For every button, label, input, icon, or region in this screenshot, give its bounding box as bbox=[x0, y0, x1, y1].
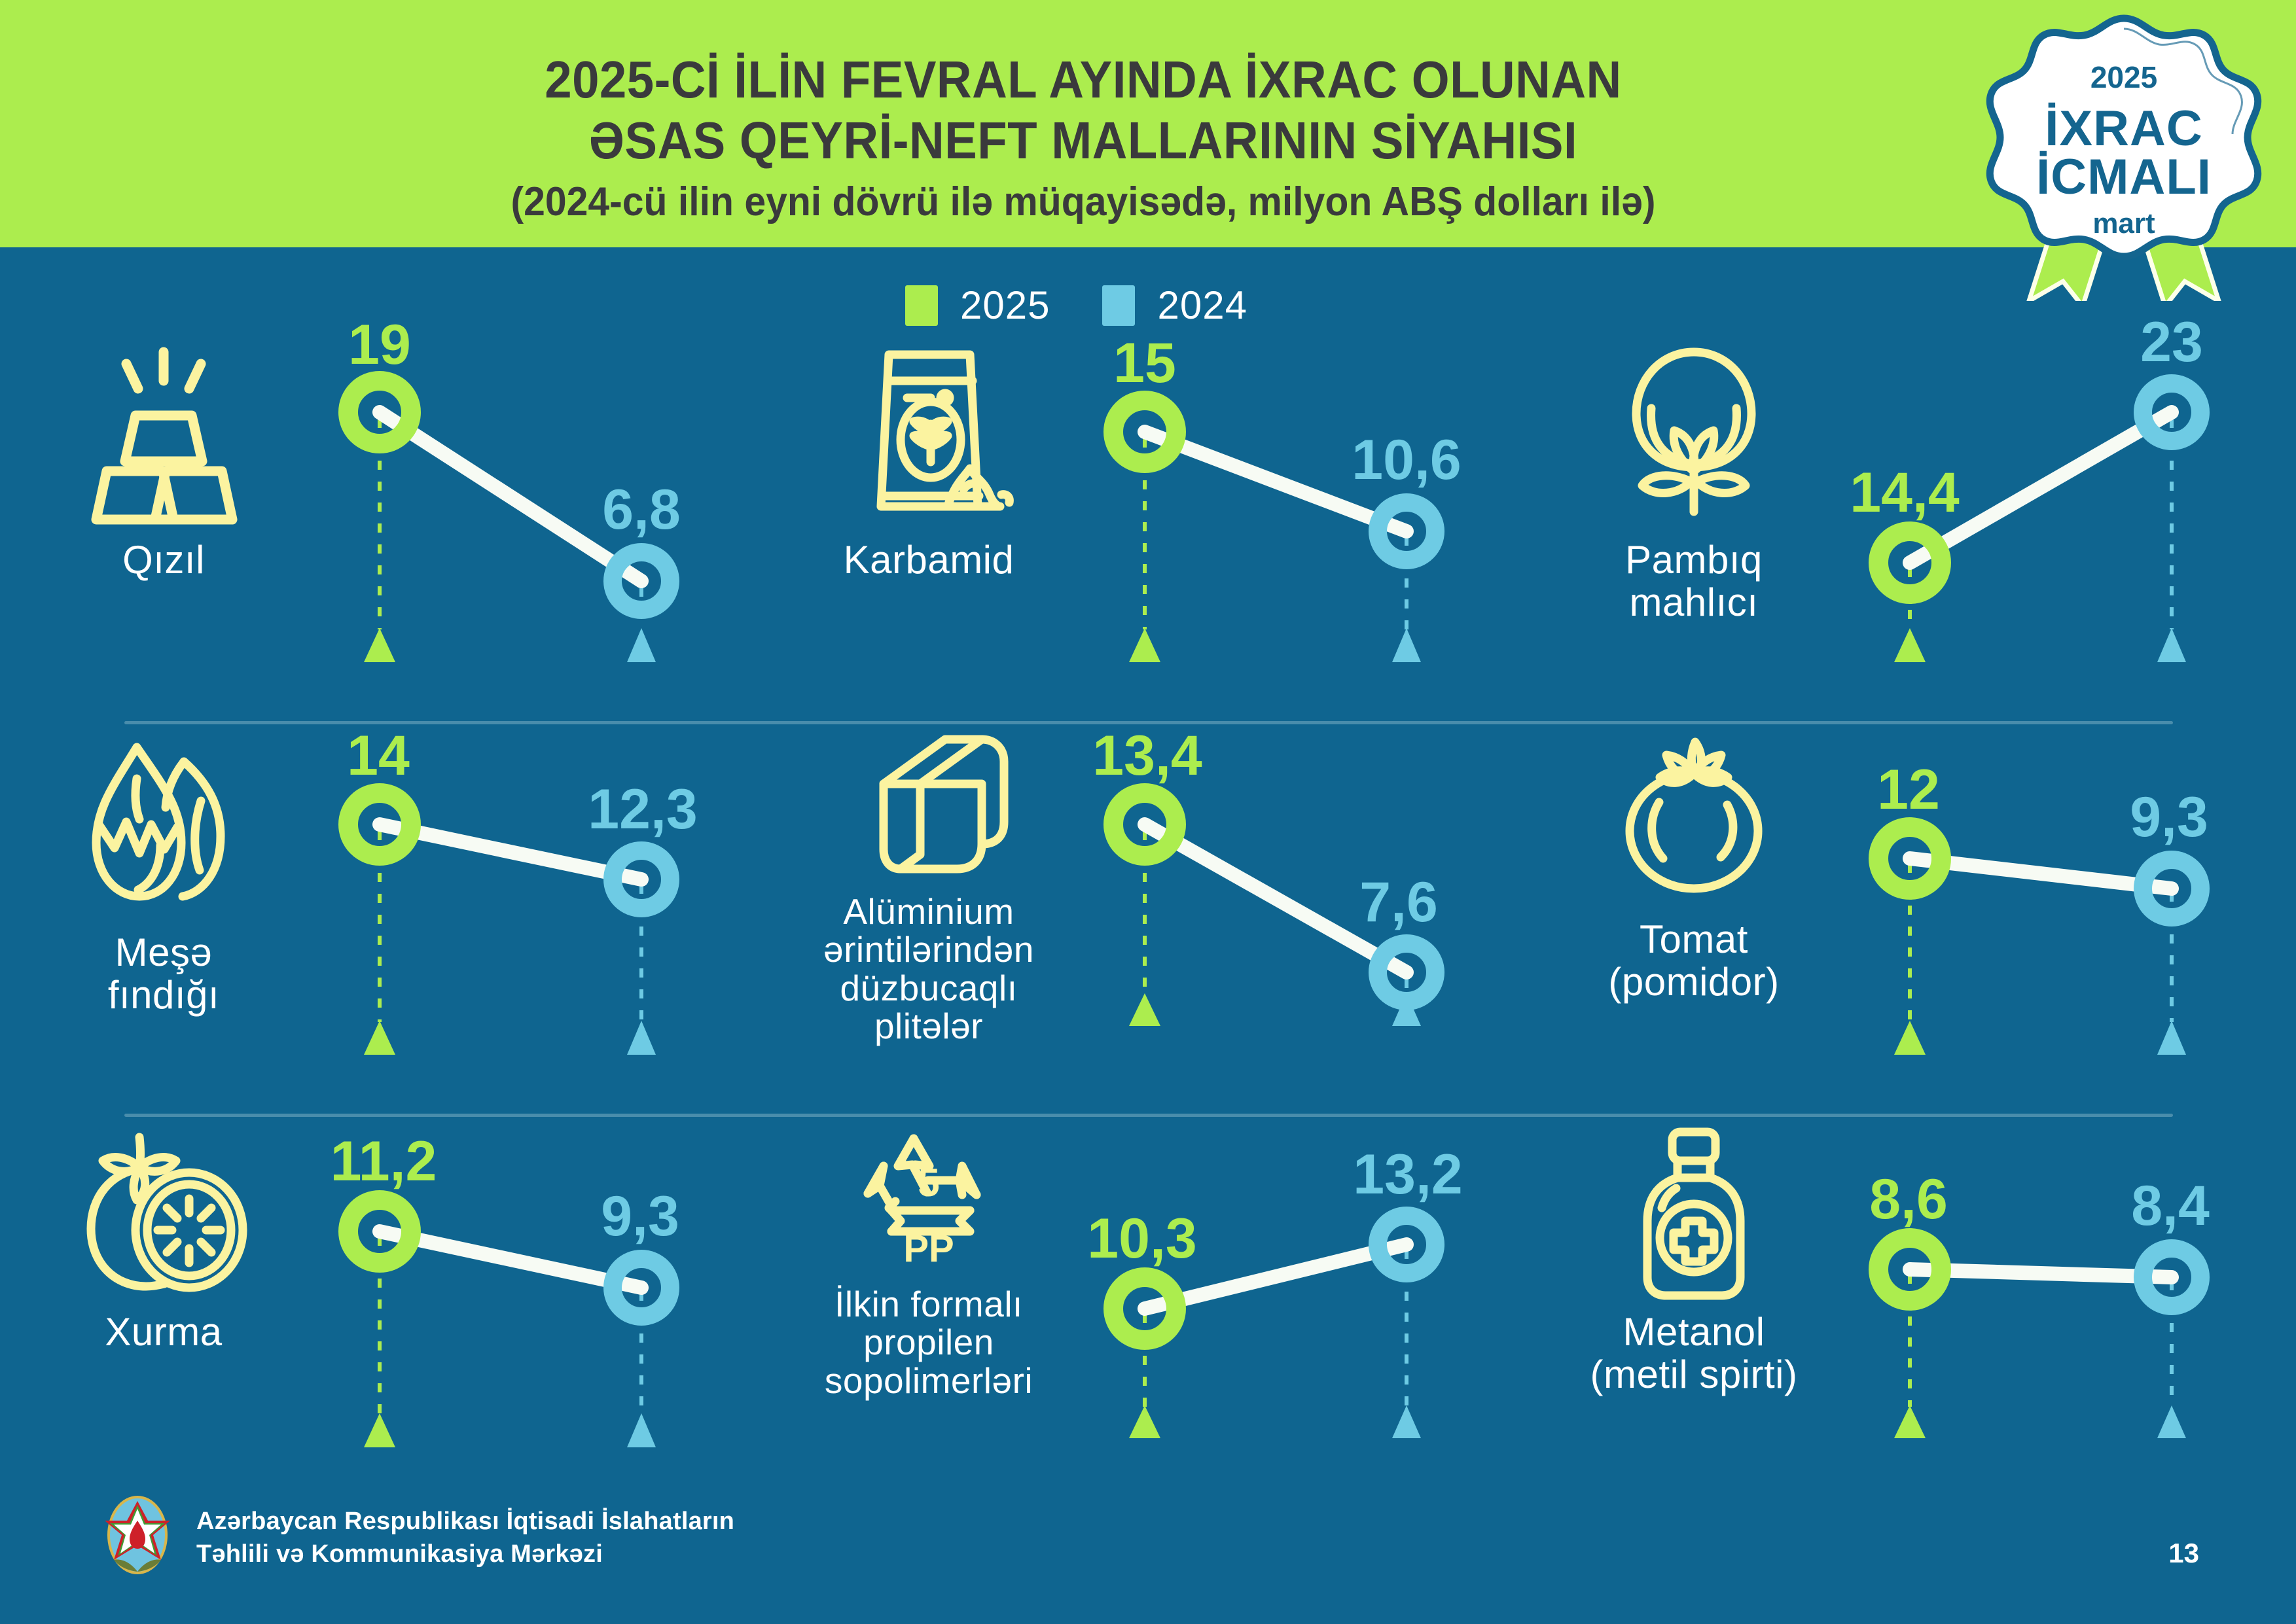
item-cell-karbamid: Karbamid 15 10,6 bbox=[765, 340, 1530, 733]
item-label: Qızıl bbox=[122, 539, 205, 582]
fertilizer-bag-icon bbox=[821, 340, 1037, 530]
item-icon-and-label: Alüminium ərintilərindən düzbucaqlı plit… bbox=[791, 733, 1066, 1099]
item-label: Meşə fındığı bbox=[108, 932, 219, 1017]
item-cell-aluminium-plit: Alüminium ərintilərindən düzbucaqlı plit… bbox=[765, 733, 1530, 1125]
item-icon-and-label: Karbamid bbox=[791, 340, 1066, 707]
gold-bars-icon bbox=[56, 340, 272, 530]
value-2025: 15 bbox=[1113, 332, 1176, 395]
items-row-3: Xurma 11,2 9,3 bbox=[0, 1125, 2296, 1518]
legend-swatch-2024 bbox=[1102, 285, 1135, 326]
item-cell-pambiq-mahlici: Pambıq mahlıcı 14,4 23 bbox=[1530, 340, 2295, 733]
item-plot: 14,4 23 bbox=[1805, 340, 2289, 720]
badge-line1: İXRAC bbox=[2045, 101, 2202, 156]
persimmon-icon bbox=[56, 1125, 272, 1302]
hazelnut-icon bbox=[56, 733, 272, 923]
item-icon-and-label: Tomat (pomidor) bbox=[1556, 733, 1831, 1099]
item-plot: 14 12,3 bbox=[275, 733, 759, 1112]
page-title-line1: 2025-Cİ İLİN FEVRAL AYINDA İXRAC OLUNAN bbox=[453, 50, 1713, 111]
item-label: Pambıq mahlıcı bbox=[1625, 539, 1763, 624]
legend-item-2024: 2024 bbox=[1102, 283, 1247, 328]
legend-label-2025: 2025 bbox=[960, 283, 1050, 328]
recycling-code-label: PP bbox=[903, 1227, 954, 1270]
item-plot: 10,3 13,2 bbox=[1040, 1125, 1524, 1505]
value-2024: 13,2 bbox=[1353, 1143, 1462, 1206]
legend-swatch-2025 bbox=[905, 285, 938, 326]
value-2025: 14,4 bbox=[1850, 461, 1960, 524]
item-icon-and-label: 5 PP İlkin formalı propilen sopolimerlər… bbox=[791, 1125, 1066, 1492]
title-block: 2025-Cİ İLİN FEVRAL AYINDA İXRAC OLUNAN … bbox=[406, 50, 1761, 227]
value-2024: 6,8 bbox=[602, 478, 681, 541]
value-2025: 14 bbox=[347, 724, 410, 787]
item-cell-metanol: Metanol (metil spirti) 8,6 8,4 bbox=[1530, 1125, 2295, 1518]
infographic-page: 2025-Cİ İLİN FEVRAL AYINDA İXRAC OLUNAN … bbox=[0, 0, 2296, 1624]
value-2024: 12,3 bbox=[588, 778, 697, 841]
value-2024: 9,3 bbox=[2130, 786, 2208, 849]
footer: Azərbaycan Respublikası İqtisadi İslahat… bbox=[0, 1493, 2296, 1624]
header-band: 2025-Cİ İLİN FEVRAL AYINDA İXRAC OLUNAN … bbox=[0, 0, 2296, 247]
item-plot: 19 6,8 bbox=[275, 340, 759, 720]
value-2025: 19 bbox=[348, 313, 411, 376]
item-cell-xurma: Xurma 11,2 9,3 bbox=[0, 1125, 765, 1518]
legend-label-2024: 2024 bbox=[1157, 283, 1247, 328]
value-2024: 9,3 bbox=[601, 1185, 679, 1248]
value-2024: 8,4 bbox=[2131, 1174, 2210, 1237]
item-icon-and-label: Xurma bbox=[26, 1125, 301, 1492]
value-2024: 7,6 bbox=[1359, 871, 1438, 934]
item-label: Xurma bbox=[105, 1311, 222, 1354]
item-icon-and-label: Meşə fındığı bbox=[26, 733, 301, 1099]
cotton-boll-icon bbox=[1586, 340, 1802, 530]
tomato-icon bbox=[1586, 733, 1802, 909]
ixrac-icmali-badge: 2025 İXRAC İCMALI mart bbox=[1983, 7, 2265, 301]
items-row-1: Qızıl 19 6,8 bbox=[0, 340, 2296, 733]
item-plot: 8,6 8,4 bbox=[1805, 1125, 2289, 1505]
item-icon-and-label: Metanol (metil spirti) bbox=[1556, 1125, 1831, 1492]
value-2024: 10,6 bbox=[1352, 429, 1461, 491]
badge-line2: İCMALI bbox=[2036, 149, 2212, 205]
badge-month: mart bbox=[2092, 207, 2155, 239]
item-cell-qizil: Qızıl 19 6,8 bbox=[0, 340, 765, 733]
legend-item-2025: 2025 bbox=[905, 283, 1050, 328]
footer-line2: Təhlili və Kommunikasiya Mərkəzi bbox=[196, 1538, 734, 1570]
recycling-code-number: 5 bbox=[918, 1161, 939, 1205]
item-icon-and-label: Qızıl bbox=[26, 340, 301, 707]
page-subtitle: (2024-cü ilin eyni dövrü ilə müqayisədə,… bbox=[440, 177, 1727, 228]
azerbaijan-emblem-icon bbox=[98, 1492, 177, 1583]
page-title-line2: ƏSAS QEYRİ-NEFT MALLARININ SİYAHISI bbox=[453, 111, 1713, 171]
value-2025: 12 bbox=[1877, 758, 1940, 821]
item-label: İlkin formalı propilen sopolimerləri bbox=[825, 1285, 1033, 1400]
footer-line1: Azərbaycan Respublikası İqtisadi İslahat… bbox=[196, 1505, 734, 1538]
legend: 2025 2024 bbox=[905, 283, 1247, 328]
item-plot: 15 10,6 bbox=[1040, 340, 1524, 720]
item-plot: 11,2 9,3 bbox=[275, 1125, 759, 1505]
value-2025: 10,3 bbox=[1087, 1207, 1196, 1270]
footer-text: Azərbaycan Respublikası İqtisadi İslahat… bbox=[196, 1505, 734, 1570]
value-2024: 23 bbox=[2140, 311, 2203, 374]
value-2025: 11,2 bbox=[331, 1130, 437, 1193]
aluminium-slab-icon bbox=[821, 733, 1037, 883]
item-cell-tomat: Tomat (pomidor) 12 9,3 bbox=[1530, 733, 2295, 1125]
row-separator bbox=[124, 1114, 2173, 1117]
item-icon-and-label: Pambıq mahlıcı bbox=[1556, 340, 1831, 707]
item-cell-mese-findigi: Meşə fındığı 14 12,3 bbox=[0, 733, 765, 1125]
item-label: Alüminium ərintilərindən düzbucaqlı plit… bbox=[823, 892, 1034, 1045]
value-2025: 13,4 bbox=[1092, 724, 1202, 787]
value-2025: 8,6 bbox=[1869, 1168, 1948, 1231]
item-cell-propilen: 5 PP İlkin formalı propilen sopolimerlər… bbox=[765, 1125, 1530, 1518]
item-plot: 13,4 7,6 bbox=[1040, 733, 1524, 1112]
items-grid: Qızıl 19 6,8 bbox=[0, 340, 2296, 1518]
item-plot: 12 9,3 bbox=[1805, 733, 2289, 1112]
page-number: 13 bbox=[2168, 1538, 2199, 1569]
badge-year: 2025 bbox=[2090, 60, 2157, 94]
item-label: Karbamid bbox=[844, 539, 1014, 582]
medicine-bottle-icon bbox=[1586, 1125, 1802, 1302]
item-label: Tomat (pomidor) bbox=[1608, 919, 1779, 1004]
footer-brand: Azərbaycan Respublikası İqtisadi İslahat… bbox=[98, 1492, 734, 1583]
items-row-2: Meşə fındığı 14 12,3 bbox=[0, 733, 2296, 1125]
item-label: Metanol (metil spirti) bbox=[1590, 1311, 1798, 1396]
recycling-pp-icon: 5 PP bbox=[821, 1125, 1037, 1276]
